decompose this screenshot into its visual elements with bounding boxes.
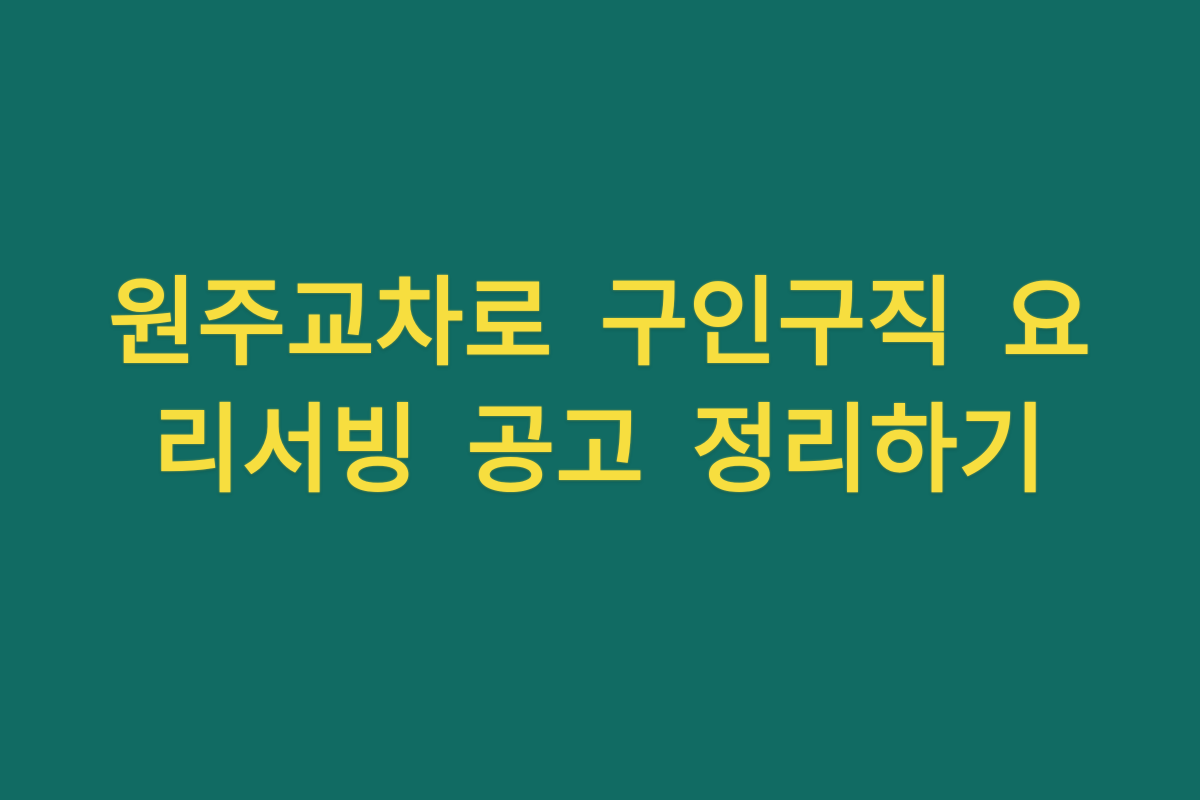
headline-line-1: 원주교차로 구인구직 요 xyxy=(55,260,1145,387)
headline-line-2: 리서빙 공고 정리하기 xyxy=(55,387,1145,514)
thumbnail-card: 원주교차로 구인구직 요 리서빙 공고 정리하기 xyxy=(0,0,1200,800)
page-title: 원주교차로 구인구직 요 리서빙 공고 정리하기 xyxy=(55,260,1145,513)
